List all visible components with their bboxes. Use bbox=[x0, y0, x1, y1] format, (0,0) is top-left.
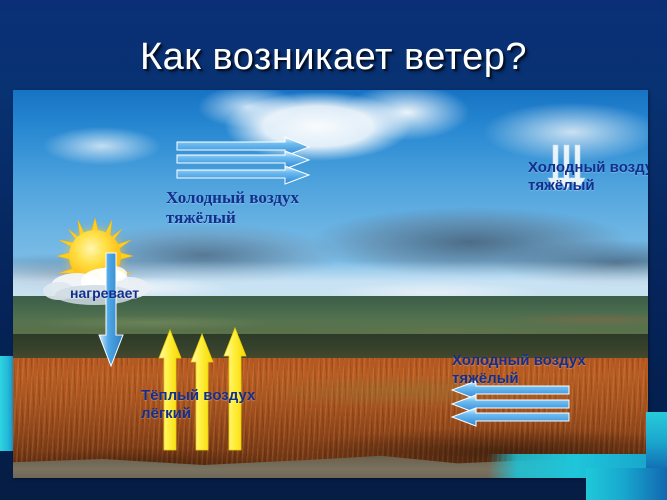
label-warm-air: Тёплый воздух лёгкий bbox=[141, 387, 255, 422]
landscape-photo: Холодный воздух тяжёлый Холодный воздух … bbox=[13, 90, 648, 478]
slide-canvas: Как возникает ветер? bbox=[0, 0, 667, 500]
label-heats: нагревает bbox=[70, 285, 139, 302]
label-cold-air-top-right: Холодный воздух тяжёлый bbox=[528, 159, 648, 194]
label-cold-air-bottom-right: Холодный воздух тяжёлый bbox=[452, 352, 586, 387]
label-cold-air-top-left: Холодный воздух тяжёлый bbox=[166, 188, 299, 228]
page-title: Как возникает ветер? bbox=[0, 36, 667, 79]
decorative-cyan-band-right bbox=[646, 412, 667, 472]
decorative-cyan-band-bottom-right bbox=[586, 468, 667, 500]
